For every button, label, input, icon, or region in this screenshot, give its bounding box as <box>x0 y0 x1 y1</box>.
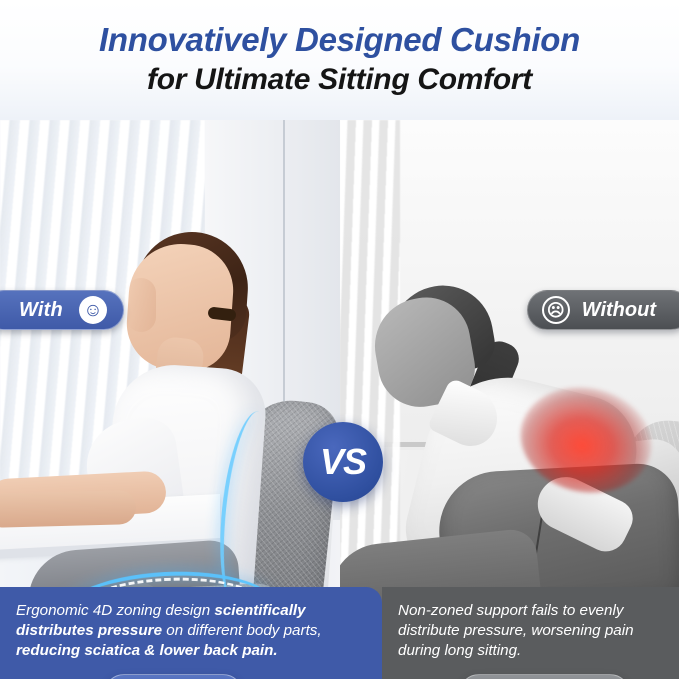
face-shading <box>126 278 156 332</box>
sad-face-icon: ☹ <box>542 296 570 324</box>
traditional-badge[interactable]: Traditional 👎 <box>459 674 630 679</box>
comparison-stage: With ☺ ☹ Without VS Zikee 👍 Traditional … <box>0 120 679 679</box>
badge-without-label: Without <box>582 299 656 322</box>
brand-badge[interactable]: Zikee 👍 <box>104 674 243 679</box>
badge-without[interactable]: ☹ Without <box>527 290 679 330</box>
badge-with-label: With <box>19 299 63 322</box>
page-title-line1: Innovatively Designed Cushion <box>99 22 580 59</box>
caption-with: Ergonomic 4D zoning design scientificall… <box>0 587 382 679</box>
versus-divider: VS <box>303 422 383 502</box>
badge-with[interactable]: With ☺ <box>0 290 124 330</box>
happy-face-icon: ☺ <box>79 296 107 324</box>
arm-lower <box>0 490 136 528</box>
infographic-root: Innovatively Designed Cushion for Ultima… <box>0 0 679 679</box>
page-title-line2: for Ultimate Sitting Comfort <box>147 62 532 98</box>
caption-without: Non-zoned support fails to evenly distri… <box>382 587 679 679</box>
title-block: Innovatively Designed Cushion for Ultima… <box>0 0 679 120</box>
